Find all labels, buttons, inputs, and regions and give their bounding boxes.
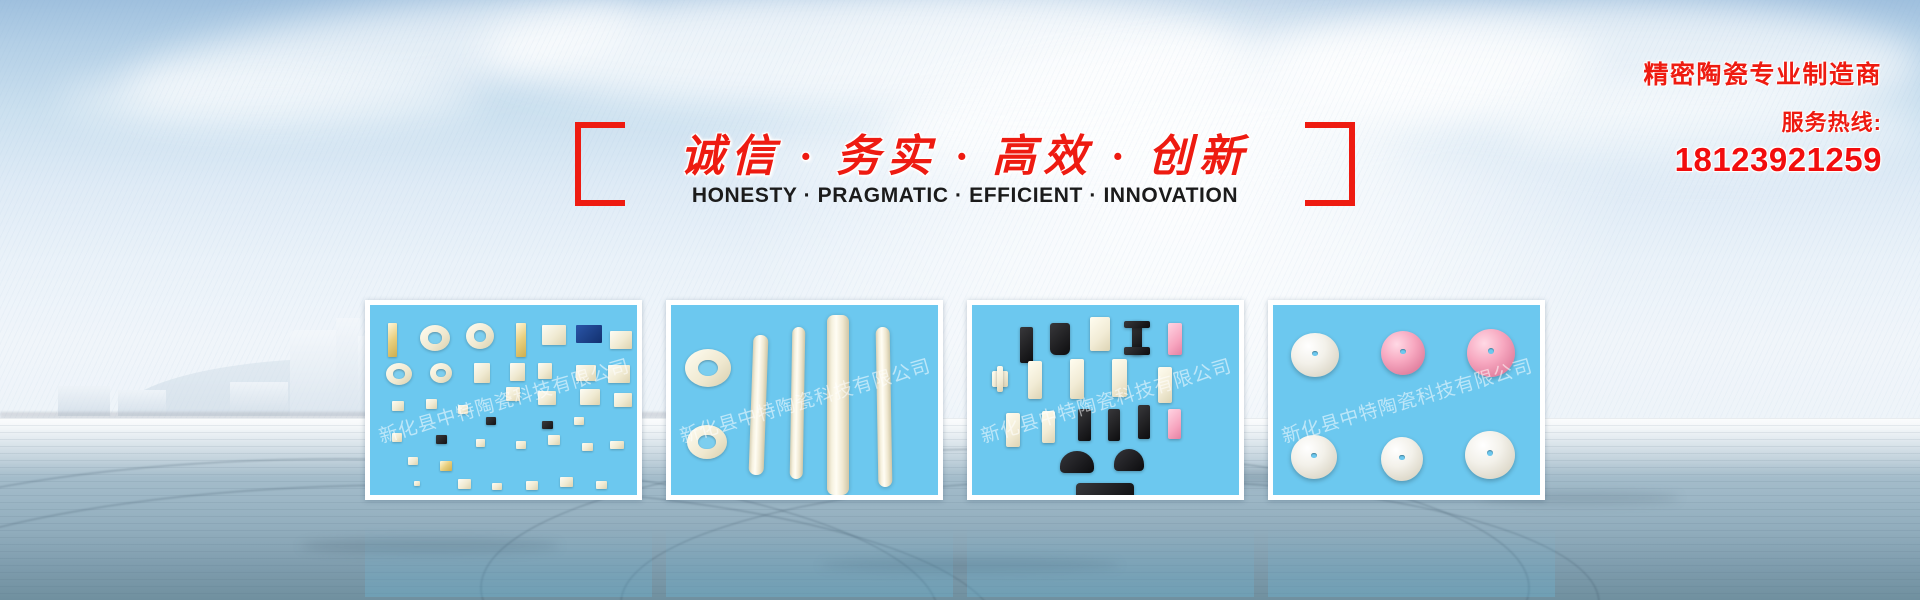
panel-image: 新化县中特陶瓷科技有限公司 [1273, 305, 1540, 495]
product-panel-ceramic-blocks[interactable]: 新化县中特陶瓷科技有限公司 [967, 300, 1244, 500]
panel-image: 新化县中特陶瓷科技有限公司 [671, 305, 938, 495]
slogan-chinese: 诚信 · 务实 · 高效 · 创新 [635, 120, 1295, 184]
hotline-label: 服务热线: [1643, 105, 1882, 137]
slogan-block: 诚信 · 务实 · 高效 · 创新 HONESTY · PRAGMATIC · … [575, 122, 1355, 230]
contact-block: 精密陶瓷专业制造商 服务热线: 18123921259 [1643, 55, 1882, 179]
building [252, 382, 288, 416]
product-panel-ceramic-caps[interactable]: 新化县中特陶瓷科技有限公司 [1268, 300, 1545, 500]
product-panel-smd-components[interactable]: 新化县中特陶瓷科技有限公司 [365, 300, 642, 500]
hotline-phone[interactable]: 18123921259 [1643, 141, 1882, 179]
product-panel-row: 新化县中特陶瓷科技有限公司 新化县中特陶瓷科技有限公司 [365, 300, 1560, 500]
promotional-banner: 诚信 · 务实 · 高效 · 创新 HONESTY · PRAGMATIC · … [0, 0, 1920, 600]
panel-image: 新化县中特陶瓷科技有限公司 [972, 305, 1239, 495]
slogan-english: HONESTY · PRAGMATIC · EFFICIENT · INNOVA… [575, 184, 1355, 208]
product-panel-ceramic-tubes[interactable]: 新化县中特陶瓷科技有限公司 [666, 300, 943, 500]
building-tower [336, 318, 360, 416]
panel-image: 新化县中特陶瓷科技有限公司 [370, 305, 637, 495]
company-tagline: 精密陶瓷专业制造商 [1643, 55, 1882, 91]
